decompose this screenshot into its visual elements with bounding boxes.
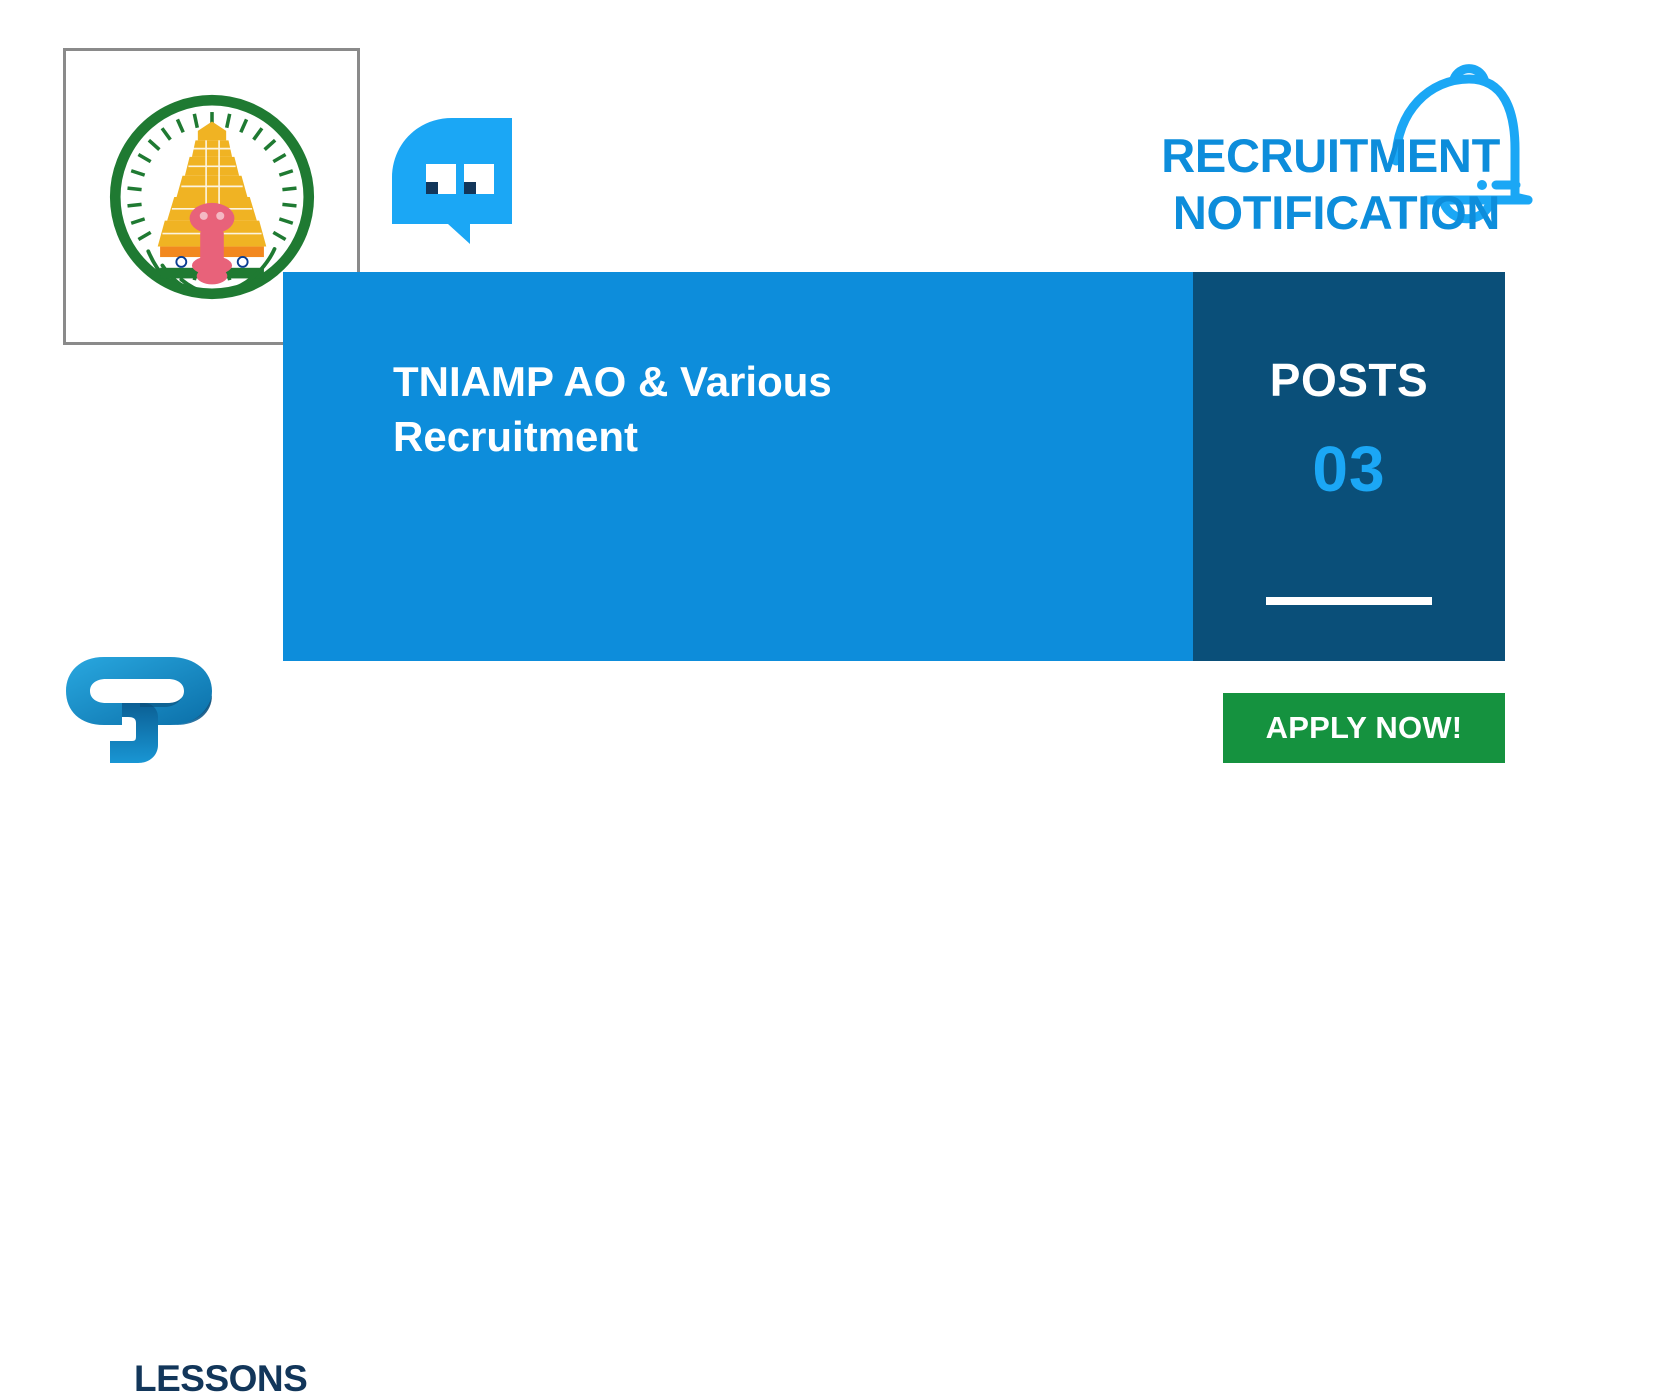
posts-label: POSTS: [1193, 353, 1505, 407]
splessons-wordmark: LESSONS: [134, 1358, 307, 1400]
recruitment-notification-banner: RECRUITMENT NOTIFICATION TNIAMP AO & Var…: [0, 0, 1667, 875]
recruitment-title: TNIAMP AO & Various Recruitment: [393, 354, 1093, 465]
divider: [1266, 597, 1432, 605]
posts-panel: POSTS 03: [1193, 272, 1505, 661]
splessons-logo: LESSONS: [66, 645, 328, 763]
main-panel: TNIAMP AO & Various Recruitment: [283, 272, 1193, 661]
apply-now-button[interactable]: APPLY NOW!: [1223, 693, 1505, 763]
posts-count: 03: [1193, 432, 1505, 506]
page-title: RECRUITMENT NOTIFICATION: [780, 128, 1500, 242]
speech-bubble-icon: [392, 118, 512, 244]
sp-monogram-icon: [66, 645, 241, 763]
